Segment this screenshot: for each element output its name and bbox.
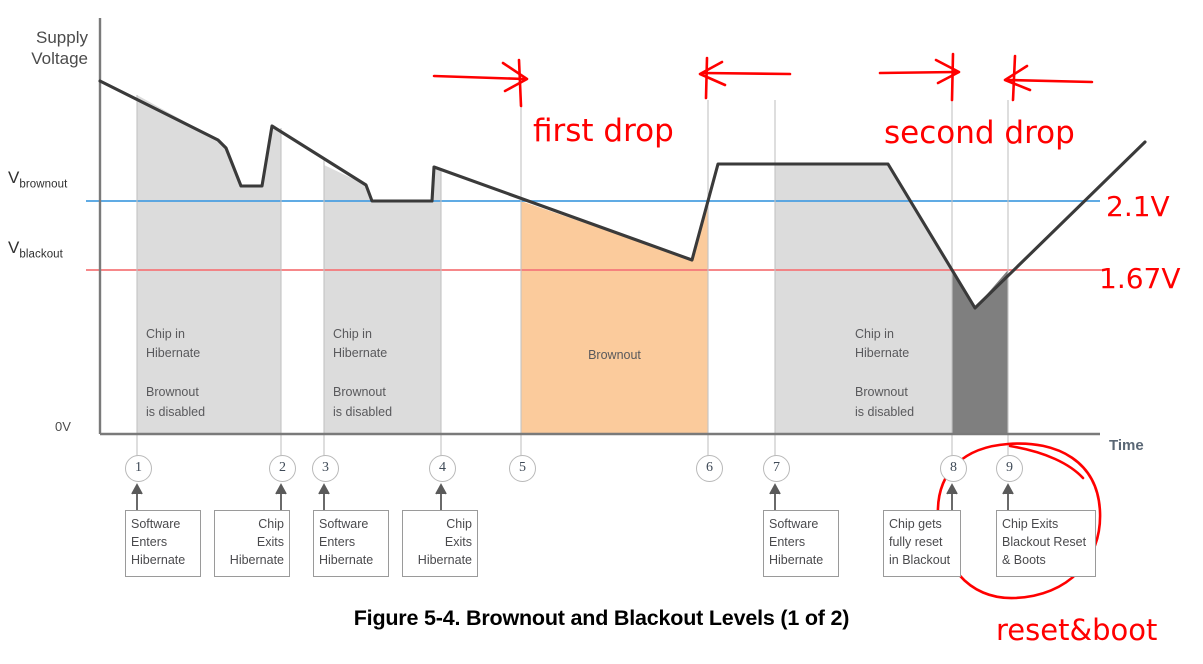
callout-9-line3: & Boots [1002,553,1046,567]
annotation-blackout-voltage: 1.67V [1099,262,1181,295]
callout-7-line3: Hibernate [769,553,823,567]
callout-3-line2: Enters [319,535,355,549]
callout-7-line2: Enters [769,535,805,549]
callout-8-line2: fully reset [889,535,943,549]
callout-box-2[interactable]: Chip Exits Hibernate [214,510,290,577]
callout-2-line2: Exits [257,535,284,549]
annotation-brownout-voltage: 2.1V [1106,190,1170,223]
figure-root: Supply Voltage Vbrownout Vblackout 0V Ti… [0,0,1203,664]
callout-8-line3: in Blackout [889,553,950,567]
callout-4-line1: Chip [446,517,472,531]
callout-box-9[interactable]: Chip Exits Blackout Reset & Boots [996,510,1096,577]
callout-8-line1: Chip gets [889,517,942,531]
callout-1-line1: Software [131,517,180,531]
callout-1-line3: Hibernate [131,553,185,567]
callout-box-4[interactable]: Chip Exits Hibernate [402,510,478,577]
callout-3-line1: Software [319,517,368,531]
callout-box-3[interactable]: Software Enters Hibernate [313,510,389,577]
callout-9-line2: Blackout Reset [1002,535,1086,549]
callout-box-1[interactable]: Software Enters Hibernate [125,510,201,577]
annotation-second-drop: second drop [884,115,1075,151]
annotation-first-drop: first drop [533,113,674,149]
callout-7-line1: Software [769,517,818,531]
callout-4-line2: Exits [445,535,472,549]
callout-3-line3: Hibernate [319,553,373,567]
callout-1-line2: Enters [131,535,167,549]
callout-2-line1: Chip [258,517,284,531]
callout-box-7[interactable]: Software Enters Hibernate [763,510,839,577]
callout-2-line3: Hibernate [230,553,284,567]
figure-caption: Figure 5-4. Brownout and Blackout Levels… [0,606,1203,631]
callout-box-8[interactable]: Chip gets fully reset in Blackout [883,510,961,577]
callout-4-line3: Hibernate [418,553,472,567]
callout-9-line1: Chip Exits [1002,517,1058,531]
